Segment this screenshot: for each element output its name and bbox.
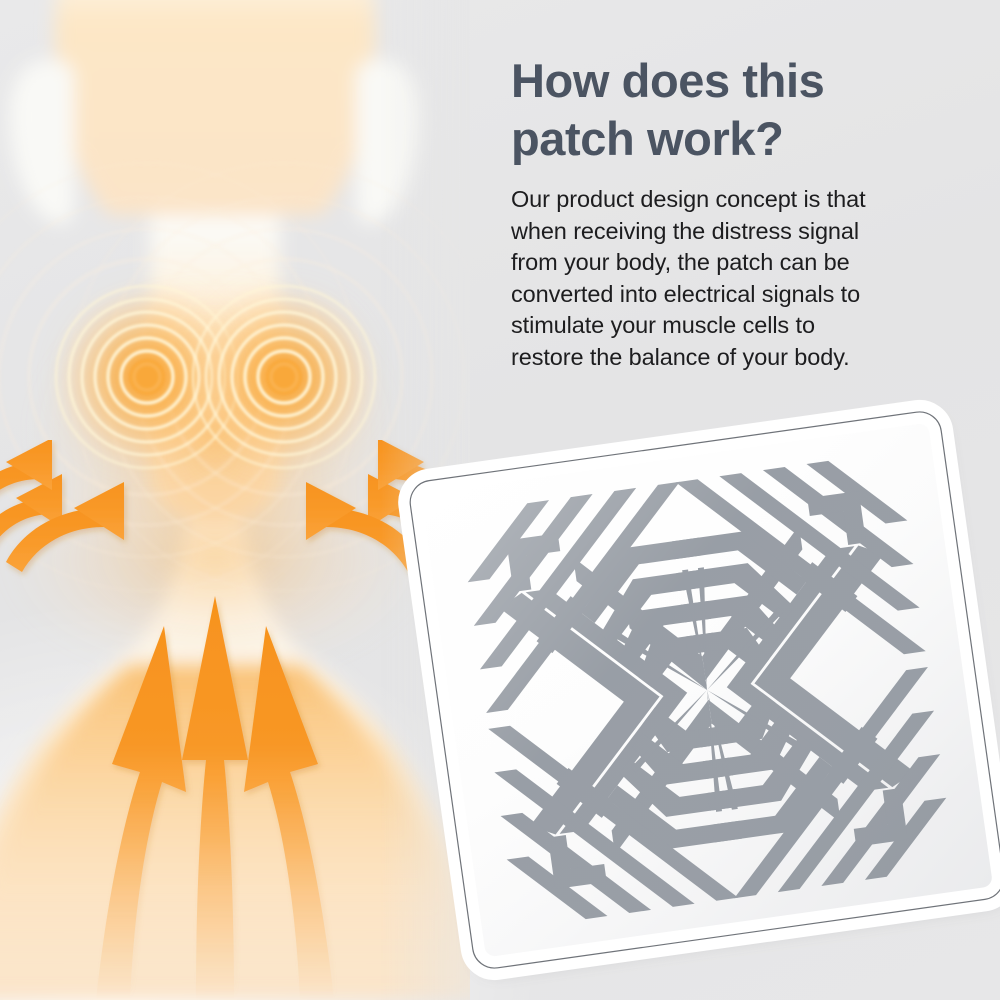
ripple-icon-right-acupoint [188, 281, 380, 473]
text-column: How does this patch work? Our product de… [511, 52, 963, 373]
infographic-canvas: How does this patch work? Our product de… [0, 0, 1000, 1000]
patch-sheen [407, 409, 1000, 971]
page-title: How does this patch work? [511, 52, 963, 168]
geometric-maze-patch[interactable] [425, 418, 995, 963]
description-paragraph: Our product design concept is that when … [511, 184, 963, 373]
